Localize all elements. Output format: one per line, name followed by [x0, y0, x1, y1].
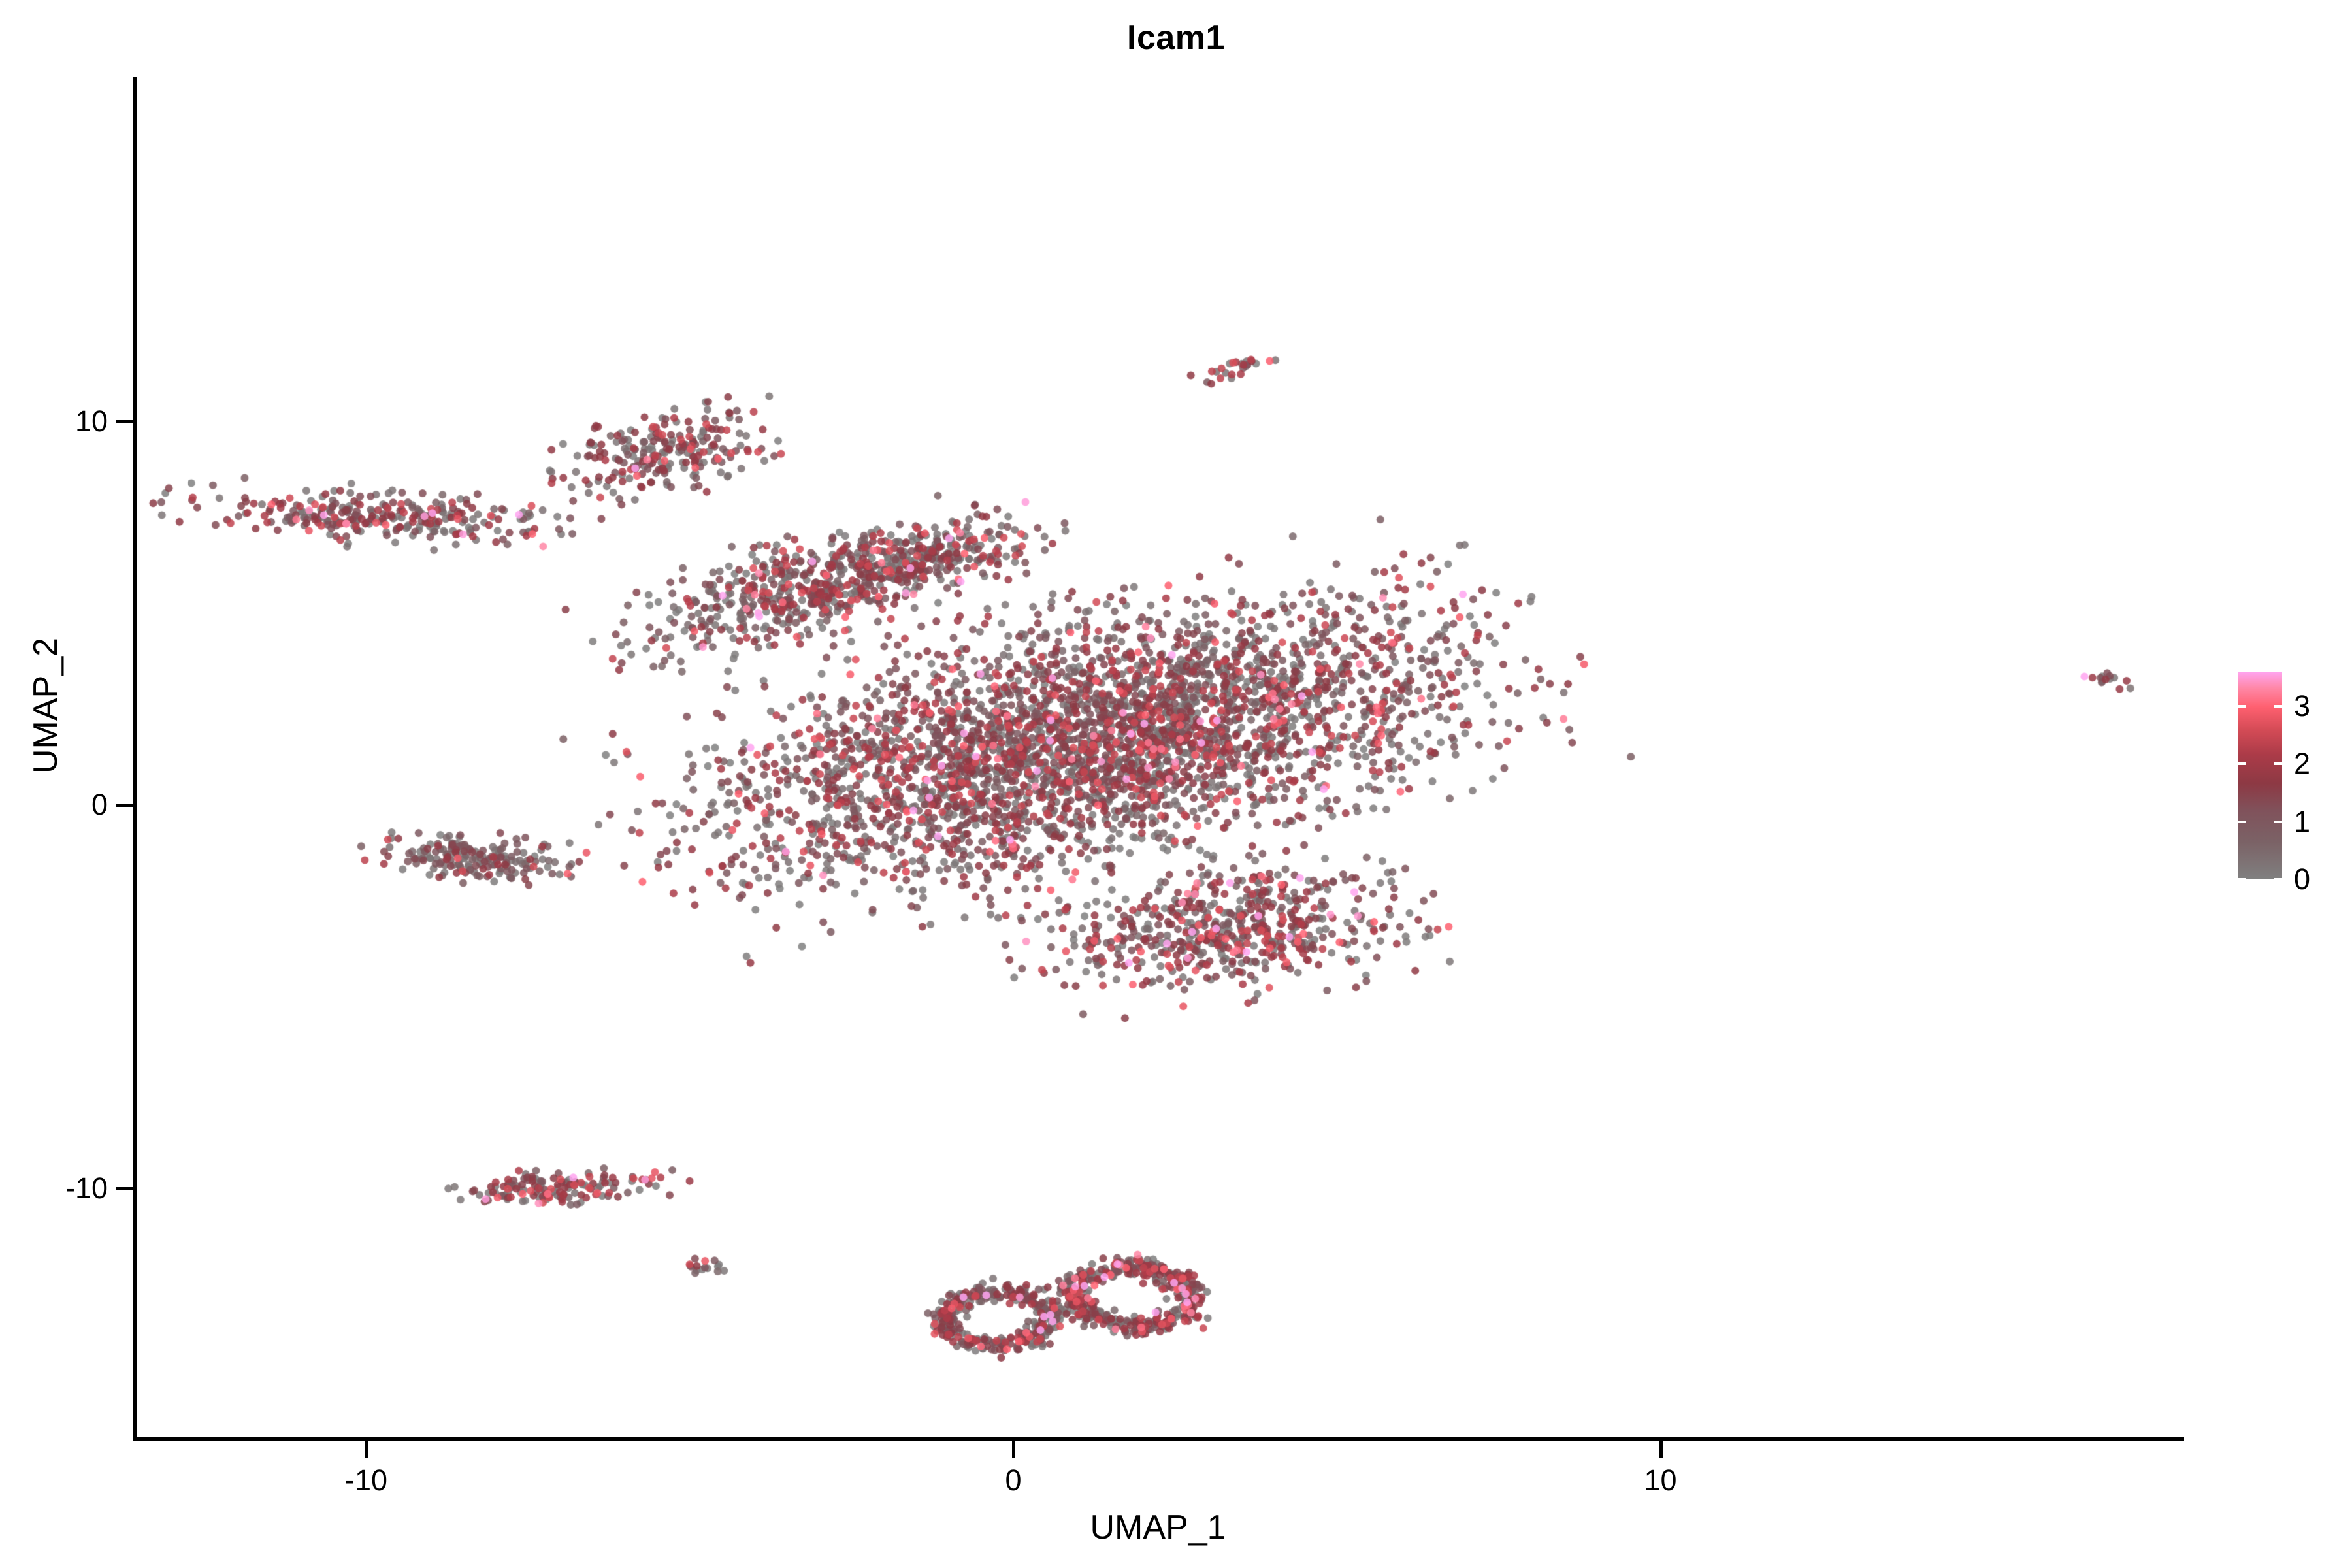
- colorbar-tick-2-left: [2238, 762, 2246, 765]
- y-axis-tick-label-neg10: -10: [65, 1171, 108, 1205]
- y-axis-tick-label-0: 0: [91, 788, 108, 822]
- x-axis-tick-label-10: 10: [1644, 1463, 1676, 1497]
- umap-scatter-canvas: [134, 77, 2182, 1439]
- y-axis-tick-label-10: 10: [75, 404, 108, 438]
- colorbar-label-0: 0: [2294, 862, 2310, 896]
- x-axis-tick-neg10: [365, 1441, 368, 1458]
- colorbar-tick-1-left: [2238, 821, 2246, 823]
- colorbar-label-1: 1: [2294, 805, 2310, 839]
- x-axis-tick-label-neg10: -10: [345, 1463, 387, 1497]
- x-axis-title: UMAP_1: [134, 1508, 2182, 1547]
- y-axis-title: UMAP_2: [26, 510, 65, 902]
- x-axis-line: [133, 1437, 2184, 1441]
- colorbar-label-2: 2: [2294, 747, 2310, 781]
- scatter-plot-panel: [134, 77, 2182, 1439]
- colorbar-label-3: 3: [2294, 689, 2310, 723]
- y-axis-tick-0: [116, 804, 133, 807]
- colorbar-tick-2-right: [2274, 762, 2282, 765]
- y-axis-tick-10: [116, 420, 133, 423]
- color-legend: 3 2 1 0: [2238, 672, 2336, 887]
- x-axis-tick-0: [1012, 1441, 1015, 1458]
- y-axis-line: [133, 77, 137, 1441]
- colorbar-tick-1-right: [2274, 821, 2282, 823]
- feature-plot-figure: Icam1 10 0 -10 -10 0 10 UMAP_2 UMAP_1 3 …: [0, 0, 2352, 1568]
- colorbar-tick-3-right: [2274, 705, 2282, 708]
- colorbar-gradient: [2238, 672, 2282, 879]
- colorbar-tick-3-left: [2238, 705, 2246, 708]
- x-axis-tick-label-0: 0: [1005, 1463, 1021, 1497]
- page-title: Icam1: [0, 18, 2352, 57]
- x-axis-tick-10: [1659, 1441, 1663, 1458]
- y-axis-tick-neg10: [116, 1187, 133, 1190]
- colorbar-tick-0-left: [2238, 878, 2246, 881]
- colorbar-tick-0-right: [2274, 878, 2282, 881]
